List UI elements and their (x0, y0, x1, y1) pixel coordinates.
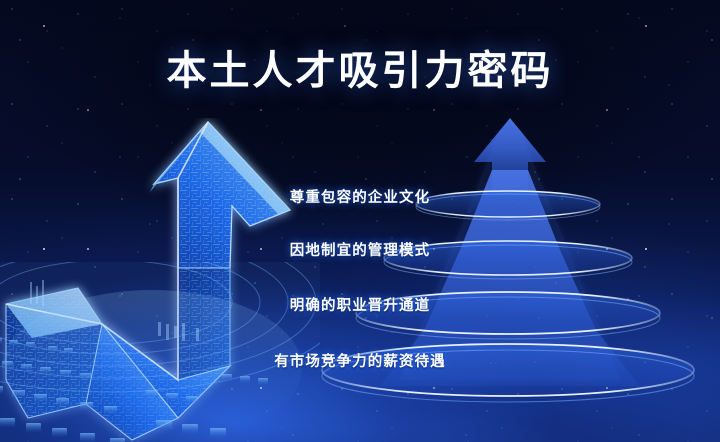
slide-title: 本土人才吸引力密码 (0, 38, 720, 96)
slide-canvas: 尊重包容的企业文化 因地制宜的管理模式 明确的职业晋升通道 有市场竞争力的薪资待… (0, 0, 720, 442)
pyramid-layer-label-1: 因地制宜的管理模式 (0, 239, 720, 260)
pyramid-layer-label-0: 尊重包容的企业文化 (0, 186, 720, 207)
pyramid-layer-label-2: 明确的职业晋升通道 (0, 294, 720, 315)
pyramid-layer-label-3: 有市场竞争力的薪资待遇 (0, 350, 720, 371)
